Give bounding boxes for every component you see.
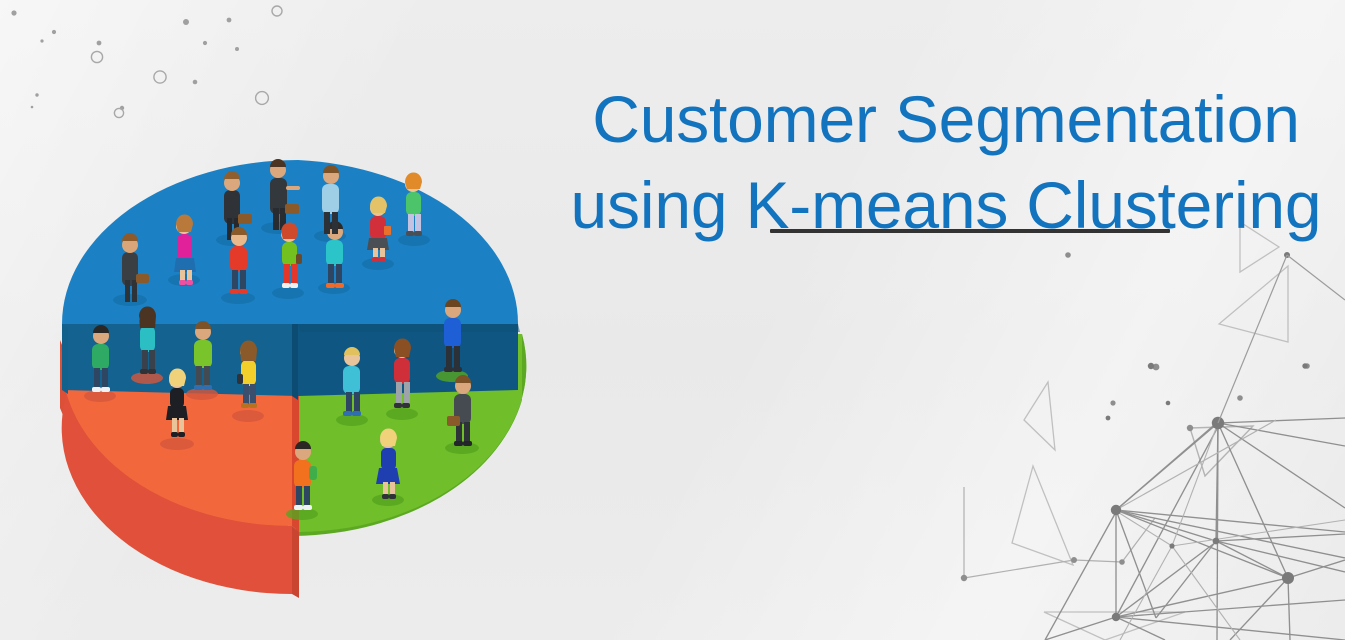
title-line-1: Customer Segmentation bbox=[556, 76, 1336, 162]
title-underline-rule bbox=[770, 229, 1170, 233]
slide-canvas: Customer Segmentation using K-means Clus… bbox=[0, 0, 1345, 640]
title-line-2: using K-means Clustering bbox=[556, 162, 1336, 248]
page-title: Customer Segmentation using K-means Clus… bbox=[556, 76, 1336, 248]
pie-chart-illustration bbox=[52, 128, 552, 640]
